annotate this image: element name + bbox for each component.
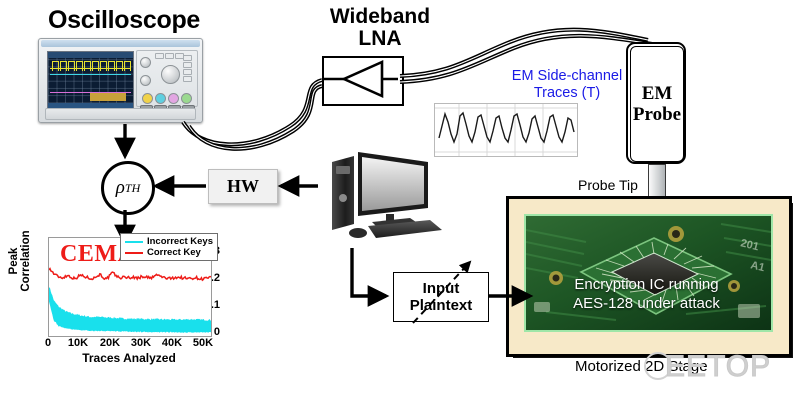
x-tick-10K: 10K <box>66 337 90 349</box>
x-tick-20K: 20K <box>98 337 122 349</box>
cema-chart: Peak Correlation 0.3 0.2 0.1 0 CEMA Inco… <box>8 231 220 366</box>
legend-item-correct-key: Correct Key <box>125 247 213 258</box>
x-tick-40K: 40K <box>160 337 184 349</box>
legend-swatch-incorrect-keys <box>125 241 143 243</box>
legend-item-incorrect-keys: Incorrect Keys <box>125 236 213 247</box>
x-tick-50K: 50K <box>190 337 216 349</box>
legend-swatch-correct-key <box>125 252 143 254</box>
chart-legend: Incorrect Keys Correct Key <box>120 233 218 261</box>
chart-y-axis-label: Peak Correlation <box>8 218 32 304</box>
chart-x-axis-label: Traces Analyzed <box>48 351 210 365</box>
legend-label-correct-key: Correct Key <box>147 247 201 258</box>
x-tick-30K: 30K <box>129 337 153 349</box>
x-tick-0: 0 <box>36 337 60 349</box>
legend-label-incorrect-keys: Incorrect Keys <box>147 236 213 247</box>
